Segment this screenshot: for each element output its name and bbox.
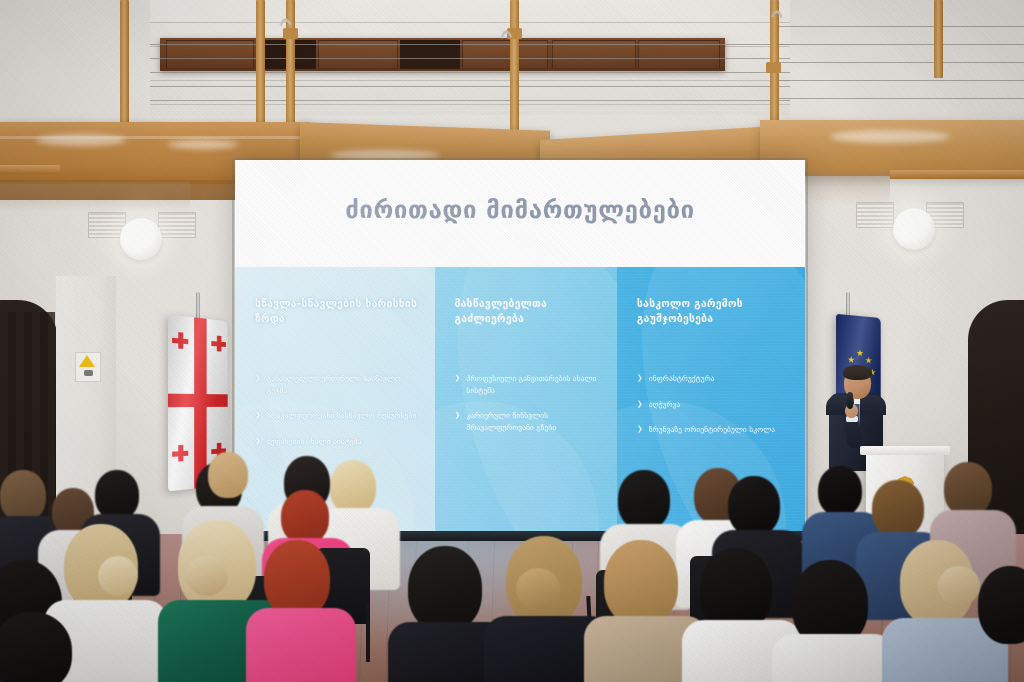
- audience-head: [95, 470, 139, 520]
- bullet-item: ❯ მრავალფეროვანი სასწავლო რესურსები: [255, 410, 423, 421]
- column-3-heading: სასკოლო გარემოს გაუმჯობესება: [637, 297, 789, 327]
- audience-head: [0, 470, 46, 522]
- wall-light: [893, 208, 935, 250]
- audience-head: [330, 460, 376, 514]
- audience-head: [618, 470, 670, 530]
- bullet-text: კარიერული წინსვლის მრავალფეროვანი გზები: [466, 410, 605, 433]
- bullet-text: შეფასების ახალი სისტემა: [267, 436, 362, 447]
- chevron-right-icon: ❯: [637, 373, 643, 384]
- railing-post: [256, 0, 265, 128]
- bullet-text: აღჭურვა: [649, 399, 681, 410]
- podium-top: [860, 446, 950, 455]
- slide-title: ძირითადი მიმართულებები: [235, 196, 805, 224]
- column-2-bullets: ❯ პროფესიული განვითარების ახალი სისტემა …: [455, 373, 605, 433]
- bullet-text: ინფრასტრუქტურა: [649, 373, 715, 384]
- microphone-icon: [847, 392, 853, 409]
- bullet-item: ❯ განახლებული ეროვნული სასწავლო გეგმა: [255, 373, 423, 396]
- chevron-right-icon: ❯: [255, 373, 261, 396]
- railing-post: [934, 0, 943, 78]
- chevron-right-icon: ❯: [455, 410, 461, 433]
- audience-head: [264, 540, 330, 618]
- warning-icon: [79, 355, 95, 367]
- conference-photo-scene: ძირითადი მიმართულებები სწავლა-სწავლების …: [0, 0, 1024, 682]
- column-1-heading: სწავლა-სწავლების ხარისხის ზრდა: [255, 297, 419, 327]
- bullet-item: ❯ ზრუნვაზე ორიენტირებული სკოლა: [637, 424, 793, 435]
- wall-vent: [158, 212, 196, 238]
- audience-head: [978, 566, 1024, 644]
- column-1-bullets: ❯ განახლებული ეროვნული სასწავლო გეგმა ❯ …: [255, 373, 423, 447]
- audience-head: [604, 540, 678, 626]
- chevron-right-icon: ❯: [255, 410, 261, 421]
- slide-title-band: ძირითადი მიმართულებები: [235, 160, 805, 267]
- bullet-text: ზრუნვაზე ორიენტირებული სკოლა: [649, 424, 775, 435]
- audience-head: [944, 462, 992, 516]
- audience-head: [818, 466, 862, 516]
- bullet-item: ❯ შეფასების ახალი სისტემა: [255, 436, 423, 447]
- balcony-cabinet: [160, 38, 725, 71]
- bullet-item: ❯ აღჭურვა: [637, 399, 793, 410]
- bullet-item: ❯ პროფესიული განვითარების ახალი სისტემა: [455, 373, 605, 396]
- column-2-heading: მასწავლებელთა გაძლიერება: [455, 297, 601, 327]
- bullet-item: ❯ ინფრასტრუქტურა: [637, 373, 793, 384]
- audience-head: [208, 452, 248, 498]
- no-smoking-icon: [84, 370, 93, 376]
- slide-column-2: მასწავლებელთა გაძლიერება ❯ პროფესიული გა…: [435, 267, 617, 534]
- chevron-right-icon: ❯: [637, 424, 643, 435]
- audience-head: [281, 490, 329, 544]
- wall-vent: [856, 202, 894, 228]
- bullet-text: განახლებული ეროვნული სასწავლო გეგმა: [267, 373, 423, 396]
- column-3-bullets: ❯ ინფრასტრუქტურა ❯ აღჭურვა ❯ ზრუნვაზე ორ…: [637, 373, 793, 435]
- chevron-right-icon: ❯: [255, 436, 261, 447]
- wall-light: [120, 218, 162, 260]
- bullet-item: ❯ კარიერული წინსვლის მრავალფეროვანი გზებ…: [455, 410, 605, 433]
- bullet-text: პროფესიული განვითარების ახალი სისტემა: [466, 373, 605, 396]
- audience-head: [872, 480, 924, 538]
- audience-head: [728, 476, 780, 536]
- chevron-right-icon: ❯: [455, 373, 461, 396]
- chevron-right-icon: ❯: [637, 399, 643, 410]
- bullet-text: მრავალფეროვანი სასწავლო რესურსები: [267, 410, 416, 421]
- audience-head: [408, 546, 482, 632]
